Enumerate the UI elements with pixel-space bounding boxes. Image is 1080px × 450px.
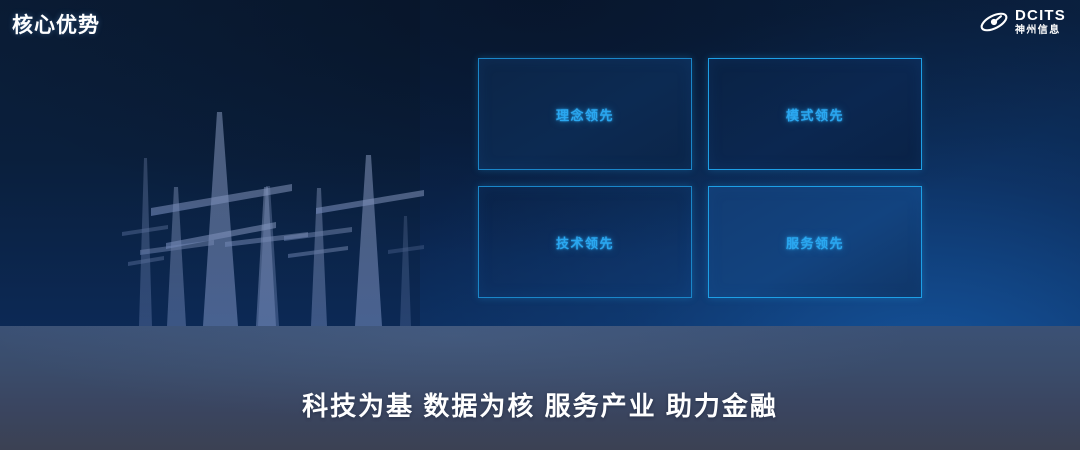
advantage-card-label: 模式领先 [786, 105, 844, 124]
slide-tagline: 科技为基 数据为核 服务产业 助力金融 [0, 386, 1080, 423]
pylon-far-left [122, 158, 168, 326]
slide-canvas: 核心优势 DCITS 神州信息 理念领先 模式领先 技术领先 服务领先 科技为基… [0, 0, 1080, 450]
advantage-card-label: 理念领先 [556, 105, 614, 124]
advantage-card-grid: 理念领先 模式领先 技术领先 服务领先 [478, 58, 922, 296]
advantage-card-service[interactable]: 服务领先 [708, 186, 922, 298]
advantage-card-model[interactable]: 模式领先 [708, 58, 922, 170]
logo-name-en: DCITS [1015, 8, 1066, 23]
advantage-card-concept[interactable]: 理念领先 [478, 58, 692, 170]
galaxy-swirl-icon [979, 9, 1009, 35]
pylon-far-right [388, 216, 424, 326]
logo-name-cn: 神州信息 [1015, 26, 1066, 36]
advantage-card-label: 技术领先 [556, 233, 614, 252]
advantage-card-label: 服务领先 [786, 233, 844, 252]
page-title: 核心优势 [12, 9, 100, 39]
logo-text-block: DCITS 神州信息 [1015, 8, 1066, 36]
advantage-card-technology[interactable]: 技术领先 [478, 186, 692, 298]
brand-logo: DCITS 神州信息 [979, 8, 1066, 36]
